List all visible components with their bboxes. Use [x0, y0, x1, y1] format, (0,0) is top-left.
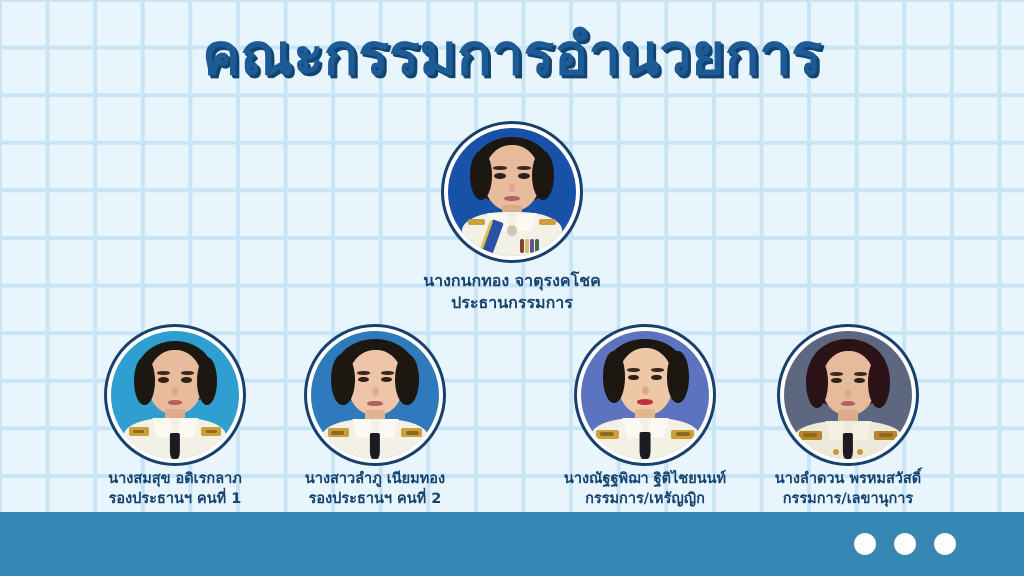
person-name-chair: นางกนกทอง จาตุรงคโชค	[0, 270, 1024, 292]
page-title-wrapper: คณะกรรมการอำนวยการ	[0, 24, 1024, 88]
portrait-photo-member-1	[311, 331, 439, 459]
person-role-chair: ประธานกรรมการ	[0, 292, 1024, 314]
person-name-member-0: นางสมสุข อดิเรกลาภ	[60, 469, 290, 489]
portrait-photo-member-3	[784, 331, 912, 459]
person-card-member-1: นางสาวลำภู เนียมทอง รองประธานฯ คนที่ 2	[260, 331, 490, 509]
person-card-member-0: นางสมสุข อดิเรกลาภ รองประธานฯ คนที่ 1	[60, 331, 290, 509]
person-role-member-3: กรรมการ/เลขานุการ	[733, 489, 963, 509]
person-name-member-1: นางสาวลำภู เนียมทอง	[260, 469, 490, 489]
avatar-member-3[interactable]	[784, 331, 912, 459]
footer-dot-3	[934, 533, 956, 555]
footer-dots	[854, 533, 956, 555]
portrait-photo-chair	[448, 128, 576, 256]
person-card-member-3: นางลำดวน พรหมสวัสดิ์ กรรมการ/เลขานุการ	[733, 331, 963, 509]
footer-bar	[0, 512, 1024, 576]
person-card-member-2: นางณัฐฐพิฌา ฐิติไชยนนท์ กรรมการ/เหรัญญิก	[530, 331, 760, 509]
portrait-photo-member-0	[111, 331, 239, 459]
footer-dot-1	[854, 533, 876, 555]
person-name-member-2: นางณัฐฐพิฌา ฐิติไชยนนท์	[530, 469, 760, 489]
page-title: คณะกรรมการอำนวยการ	[202, 24, 822, 88]
person-name-member-3: นางลำดวน พรหมสวัสดิ์	[733, 469, 963, 489]
slide-canvas: คณะกรรมการอำนวยการ	[0, 0, 1024, 576]
avatar-member-0[interactable]	[111, 331, 239, 459]
person-role-member-1: รองประธานฯ คนที่ 2	[260, 489, 490, 509]
person-card-chair: นางกนกทอง จาตุรงคโชค ประธานกรรมการ	[0, 128, 1024, 314]
person-role-member-2: กรรมการ/เหรัญญิก	[530, 489, 760, 509]
avatar-member-1[interactable]	[311, 331, 439, 459]
avatar-member-2[interactable]	[581, 331, 709, 459]
avatar-chair[interactable]	[448, 128, 576, 256]
person-role-member-0: รองประธานฯ คนที่ 1	[60, 489, 290, 509]
footer-dot-2	[894, 533, 916, 555]
portrait-photo-member-2	[581, 331, 709, 459]
